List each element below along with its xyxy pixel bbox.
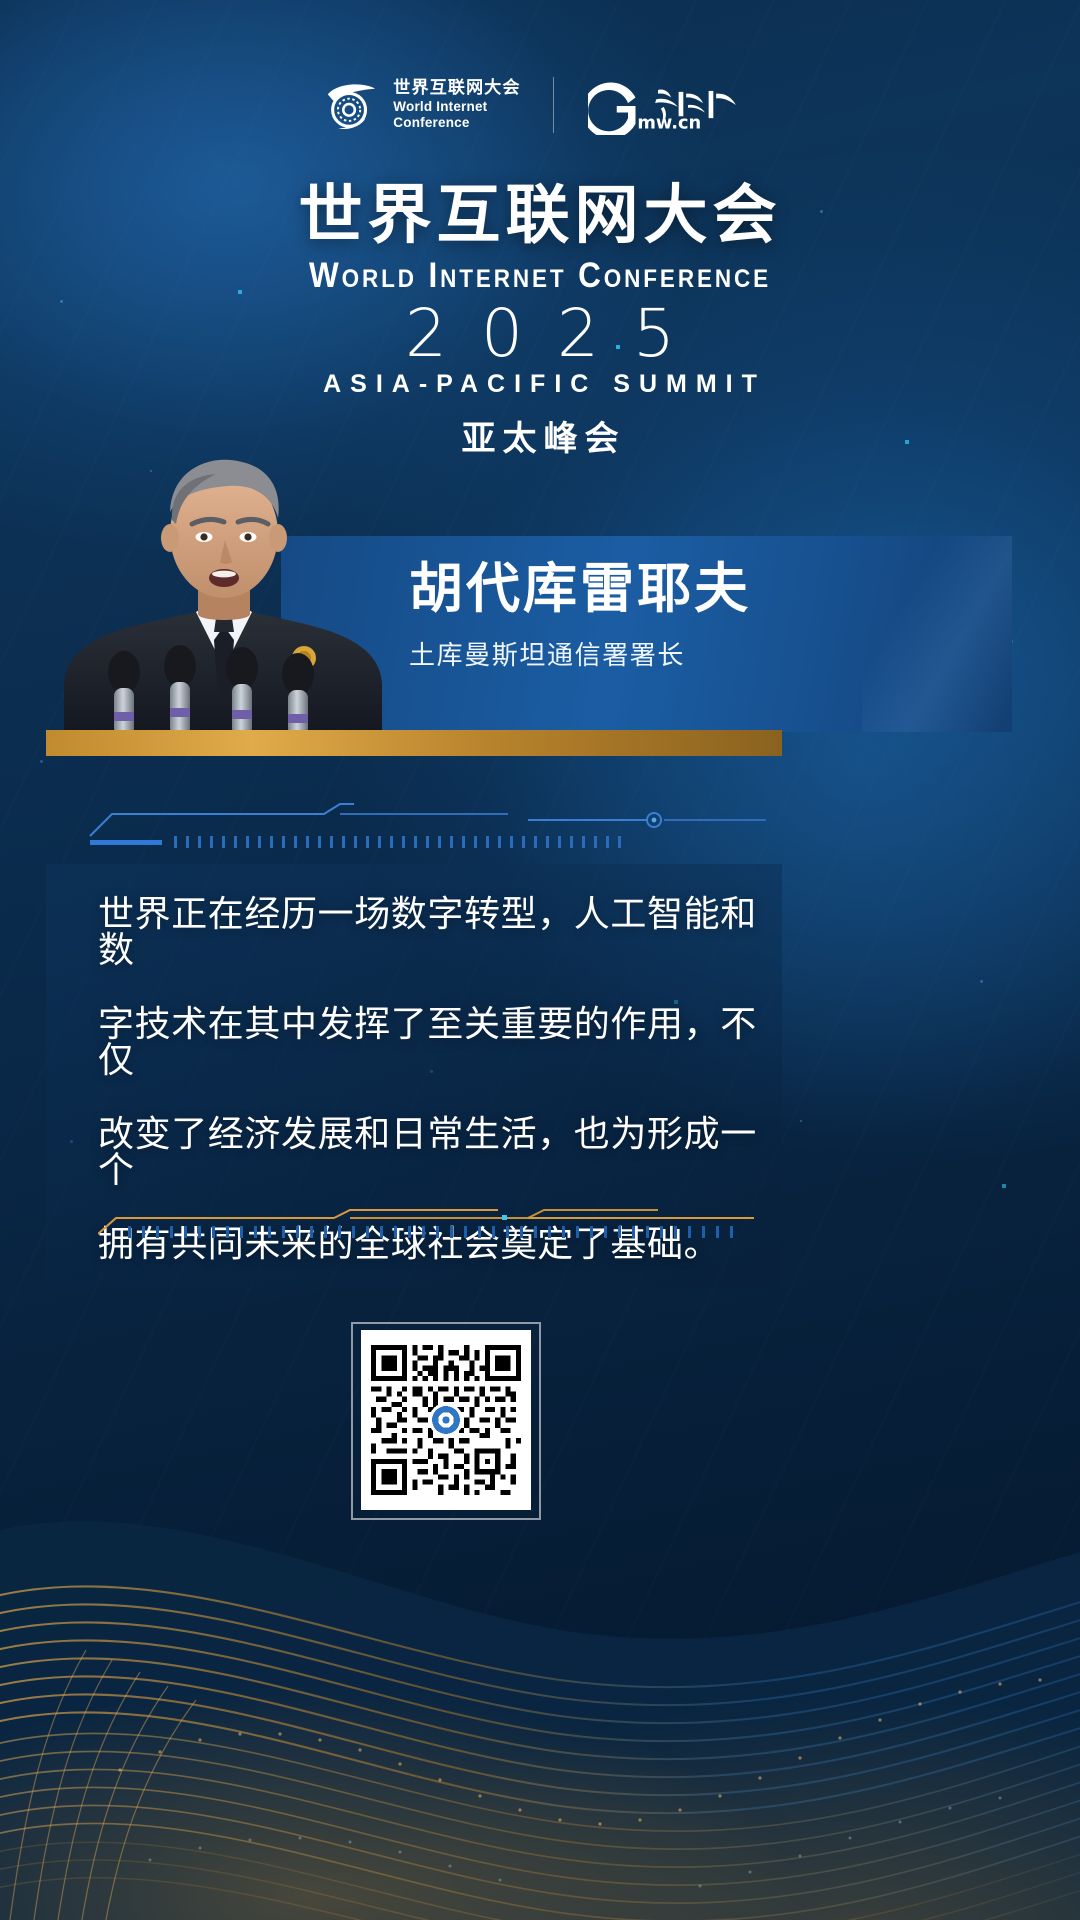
title-en-sub: ASIA-PACIFIC SUMMIT — [0, 370, 1080, 399]
title-cn-main: 世界互联网大会 — [0, 182, 1080, 250]
qr-code[interactable] — [361, 1330, 531, 1510]
title-year: 2025 — [0, 300, 1080, 369]
divider-bottom — [98, 1206, 758, 1240]
gold-accent-bar — [46, 730, 782, 756]
gmw-logo: mw.cn — [554, 75, 758, 135]
quote-line: 世界正在经历一场数字转型，人工智能和数 — [98, 896, 774, 968]
qr-code-image — [371, 1340, 521, 1500]
svg-text:mw.cn: mw.cn — [637, 112, 701, 133]
wic-eye-logo-icon — [322, 76, 380, 134]
quote-line: 改变了经济发展和日常生活，也为形成一个 — [98, 1116, 774, 1188]
quote-line: 字技术在其中发挥了至关重要的作用，不仅 — [98, 1006, 774, 1078]
speaker-name: 胡代库雷耶夫 — [409, 560, 1009, 619]
divider-top — [88, 796, 768, 852]
speaker-photo — [46, 436, 416, 736]
speaker-role: 土库曼斯坦通信署署长 — [409, 635, 1009, 672]
wic-logo-cn: 世界互联网大会 — [393, 78, 520, 99]
poster-root: 世界互联网大会 World Internet Conference — [0, 0, 1080, 1920]
gmw-round-badge-icon — [432, 1406, 460, 1434]
header-logos: 世界互联网大会 World Internet Conference — [0, 62, 1080, 148]
title-en-main: World Internet Conference — [54, 256, 1026, 296]
wic-logo-en-line1: World Internet — [393, 99, 520, 115]
wic-logo: 世界互联网大会 World Internet Conference — [322, 76, 552, 134]
wic-logo-text: 世界互联网大会 World Internet Conference — [393, 78, 520, 132]
gmw-logo-icon: mw.cn — [588, 75, 758, 135]
wic-logo-en-line2: Conference — [393, 115, 520, 131]
speaker-info: 胡代库雷耶夫 土库曼斯坦通信署署长 — [409, 560, 1009, 672]
title-block: 世界互联网大会 World Internet Conference 2025 A… — [0, 182, 1080, 460]
